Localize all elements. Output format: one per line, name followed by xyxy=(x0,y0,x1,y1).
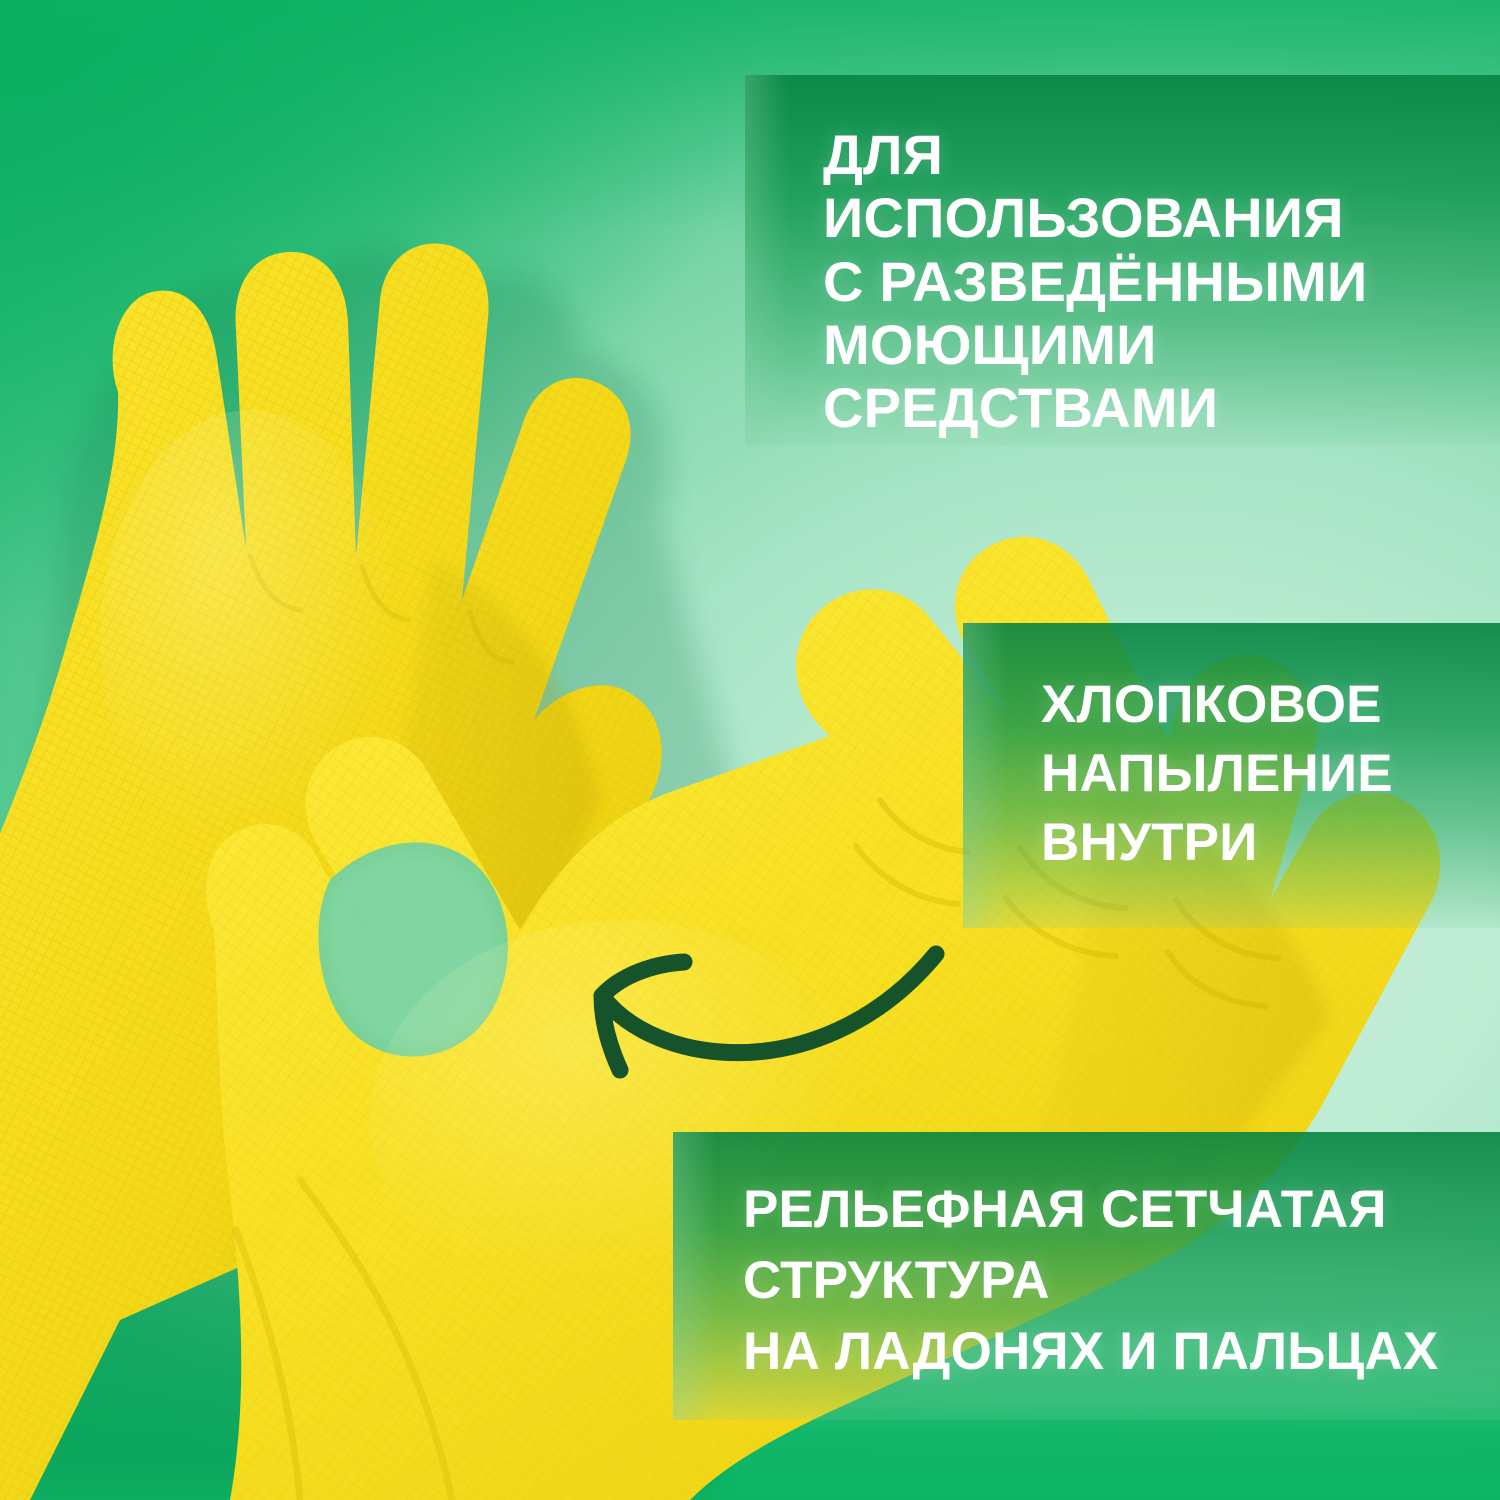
feature-text-cotton: ХЛОПКОВОЕ НАПЫЛЕНИЕ ВНУТРИ xyxy=(963,623,1500,878)
feature-line: МОЮЩИМИ xyxy=(823,313,1478,376)
product-feature-image: ДЛЯ ИСПОЛЬЗОВАНИЯ С РАЗВЕДЁННЫМИ МОЮЩИМИ… xyxy=(0,0,1500,1500)
feature-line: СТРУКТУРА xyxy=(743,1245,1478,1316)
feature-line: НАПЫЛЕНИЕ xyxy=(1041,740,1478,809)
feature-panel-detergent: ДЛЯ ИСПОЛЬЗОВАНИЯ С РАЗВЕДЁННЫМИ МОЮЩИМИ… xyxy=(745,75,1500,445)
feature-line: РЕЛЬЕФНАЯ СЕТЧАТАЯ xyxy=(743,1174,1478,1245)
feature-line: ДЛЯ ИСПОЛЬЗОВАНИЯ xyxy=(823,123,1478,250)
feature-line: ВНУТРИ xyxy=(1041,809,1478,878)
feature-panel-cotton-lining: ХЛОПКОВОЕ НАПЫЛЕНИЕ ВНУТРИ xyxy=(963,623,1500,928)
feature-line: СРЕДСТВАМИ xyxy=(823,376,1478,439)
feature-line: НА ЛАДОНЯХ И ПАЛЬЦАХ xyxy=(743,1316,1478,1387)
feature-text-texture: РЕЛЬЕФНАЯ СЕТЧАТАЯ СТРУКТУРА НА ЛАДОНЯХ … xyxy=(673,1132,1500,1387)
curved-arrow-left-icon xyxy=(540,890,980,1090)
feature-line: ХЛОПКОВОЕ xyxy=(1041,671,1478,740)
feature-line: С РАЗВЕДЁННЫМИ xyxy=(823,250,1478,313)
feature-panel-textured-grip: РЕЛЬЕФНАЯ СЕТЧАТАЯ СТРУКТУРА НА ЛАДОНЯХ … xyxy=(673,1132,1500,1420)
feature-text-detergent: ДЛЯ ИСПОЛЬЗОВАНИЯ С РАЗВЕДЁННЫМИ МОЮЩИМИ… xyxy=(745,75,1500,439)
